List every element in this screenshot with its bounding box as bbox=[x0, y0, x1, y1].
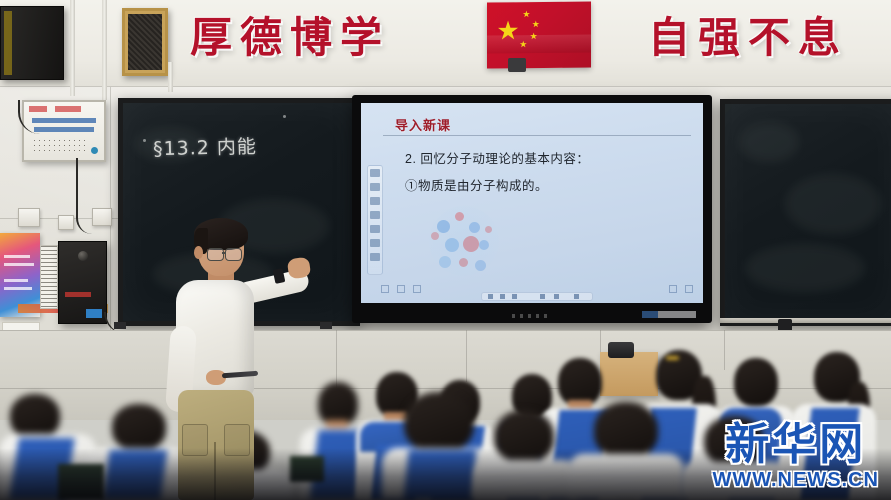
display-screen[interactable]: 导入新课 2. 回忆分子动理论的基本内容： ①物质是由分子构成的。 bbox=[361, 103, 703, 303]
student-head bbox=[594, 402, 658, 458]
classroom-chair bbox=[58, 464, 104, 500]
student-head bbox=[404, 392, 474, 452]
student-figure bbox=[792, 352, 876, 500]
undo-tool-icon[interactable] bbox=[370, 225, 380, 233]
wall-bracket bbox=[320, 322, 332, 329]
chalk-tray bbox=[720, 318, 891, 323]
student-uniform bbox=[568, 454, 684, 500]
broadcast-label-line bbox=[34, 127, 94, 132]
broadcast-indicator-icon bbox=[91, 147, 98, 154]
teacher-cargo-pants bbox=[178, 390, 254, 500]
wall-conduit bbox=[102, 0, 107, 100]
student-figure-front bbox=[568, 402, 684, 500]
bezel-indicator-icons bbox=[512, 314, 552, 318]
hair-clip bbox=[666, 356, 679, 360]
toolbar-button-icon[interactable] bbox=[554, 294, 559, 299]
molecule-dot bbox=[475, 260, 486, 271]
wristwatch bbox=[273, 268, 286, 284]
desk-equipment bbox=[608, 342, 634, 358]
more-tool-icon[interactable] bbox=[370, 253, 380, 261]
wall-sensor bbox=[508, 58, 526, 72]
student-uniform bbox=[680, 462, 790, 500]
wall-chart-strip bbox=[40, 245, 58, 309]
slide-title: 导入新课 bbox=[395, 115, 451, 134]
slogan-left: 厚德博学 bbox=[190, 6, 390, 70]
cabinet-badge bbox=[86, 309, 102, 318]
poster-text-line bbox=[4, 255, 30, 258]
slide-bottom-toolbar[interactable] bbox=[481, 292, 593, 301]
speaker-mesh bbox=[128, 14, 162, 70]
blackboard-right bbox=[720, 99, 891, 326]
cabinet-knob-icon[interactable] bbox=[78, 251, 88, 261]
student-head bbox=[10, 394, 60, 438]
eyeglasses-bridge bbox=[222, 252, 226, 254]
chalkboard-handwriting: §13.2 内能 bbox=[153, 132, 257, 162]
eraser-tool-icon[interactable] bbox=[370, 183, 380, 191]
molecule-dot bbox=[485, 226, 492, 233]
select-tool-icon[interactable] bbox=[370, 211, 380, 219]
toolbar-button-icon[interactable] bbox=[500, 294, 505, 299]
molecule-dot bbox=[479, 240, 489, 250]
toolbar-button-icon[interactable] bbox=[540, 294, 545, 299]
poster-text-line bbox=[4, 263, 34, 266]
student-uniform bbox=[474, 460, 578, 500]
pen-tool-icon[interactable] bbox=[370, 169, 380, 177]
broadcast-grille bbox=[32, 138, 88, 152]
student-figure-front bbox=[474, 410, 578, 500]
poster-text-line bbox=[4, 279, 28, 282]
chinese-national-flag: ★ ★ ★ ★ ★ bbox=[487, 1, 591, 68]
molecule-dot bbox=[437, 220, 450, 233]
molecule-dot bbox=[455, 212, 464, 221]
tile-seam bbox=[466, 330, 467, 382]
molecule-dot bbox=[463, 236, 479, 252]
chalk-smudge bbox=[785, 174, 881, 234]
toolbar-button-icon[interactable] bbox=[512, 294, 517, 299]
slogan-right: 自强不息 bbox=[648, 6, 848, 70]
shape-tool-icon[interactable] bbox=[370, 197, 380, 205]
wall-bracket bbox=[114, 322, 126, 329]
wall-socket[interactable] bbox=[92, 208, 112, 226]
molecule-dot bbox=[459, 258, 468, 267]
hanging-cable bbox=[76, 158, 92, 234]
slide-line-1: 2. 回忆分子动理论的基本内容： bbox=[405, 148, 589, 167]
slide-corner-icon[interactable] bbox=[381, 285, 389, 293]
student-head bbox=[494, 410, 554, 462]
teacher-ear bbox=[194, 246, 203, 259]
flag-star-large: ★ bbox=[496, 17, 519, 43]
molecule-dot bbox=[431, 232, 439, 240]
chalk-smudge bbox=[745, 244, 865, 292]
chalk-dot bbox=[283, 115, 286, 118]
student-head bbox=[734, 358, 778, 406]
cabinet-brand-tag bbox=[65, 292, 91, 297]
classroom-chair bbox=[290, 456, 324, 482]
pants-pocket bbox=[182, 424, 208, 456]
chalk-dot bbox=[143, 139, 146, 142]
classroom-photo: 厚德博学 自强不息 ★ ★ ★ ★ ★ bbox=[0, 0, 891, 500]
wall-speaker-right bbox=[122, 8, 168, 76]
molecule-cluster-illustration bbox=[429, 206, 499, 276]
molecule-dot bbox=[439, 256, 451, 268]
eyeglasses-lens-left bbox=[207, 248, 224, 261]
slide-line-2: ①物质是由分子构成的。 bbox=[405, 175, 548, 194]
molecule-dot bbox=[469, 222, 480, 233]
molecule-dot bbox=[445, 238, 459, 252]
wall-socket[interactable] bbox=[18, 208, 40, 227]
annotation-toolbar[interactable] bbox=[367, 165, 383, 275]
wall-socket[interactable] bbox=[58, 215, 74, 230]
broadcast-label-line bbox=[32, 118, 96, 123]
display-brand-label bbox=[642, 311, 696, 318]
slide-corner-icon[interactable] bbox=[669, 285, 677, 293]
tile-seam bbox=[0, 330, 891, 331]
flag-star-small: ★ bbox=[532, 20, 540, 29]
chalk-smudge bbox=[739, 122, 799, 162]
pants-pocket bbox=[224, 424, 250, 456]
slide-divider bbox=[383, 135, 691, 136]
student-figure-front bbox=[680, 416, 790, 500]
toolbar-button-icon[interactable] bbox=[488, 294, 493, 299]
wall-conduit bbox=[70, 0, 75, 96]
slide-corner-icon[interactable] bbox=[685, 285, 693, 293]
color-tool-icon[interactable] bbox=[370, 239, 380, 247]
wall-speaker-left bbox=[0, 6, 64, 80]
interactive-smart-display[interactable]: 导入新课 2. 回忆分子动理论的基本内容： ①物质是由分子构成的。 bbox=[352, 95, 712, 323]
slide-corner-icon[interactable] bbox=[397, 285, 405, 293]
flag-star-small: ★ bbox=[519, 40, 527, 49]
uniform-blue-stripe bbox=[403, 450, 476, 500]
flag-star-small: ★ bbox=[522, 10, 530, 19]
flag-star-small: ★ bbox=[530, 32, 538, 41]
teacher-figure bbox=[150, 222, 300, 500]
wall-conduit bbox=[168, 62, 173, 92]
student-head bbox=[704, 416, 764, 466]
toolbar-button-icon[interactable] bbox=[574, 294, 579, 299]
student-head bbox=[558, 358, 602, 406]
poster-text-line bbox=[4, 287, 32, 290]
slide-corner-icon[interactable] bbox=[413, 285, 421, 293]
electrical-cabinet bbox=[58, 241, 107, 324]
eyeglasses-lens-right bbox=[225, 248, 242, 261]
pants-seam bbox=[214, 442, 216, 500]
